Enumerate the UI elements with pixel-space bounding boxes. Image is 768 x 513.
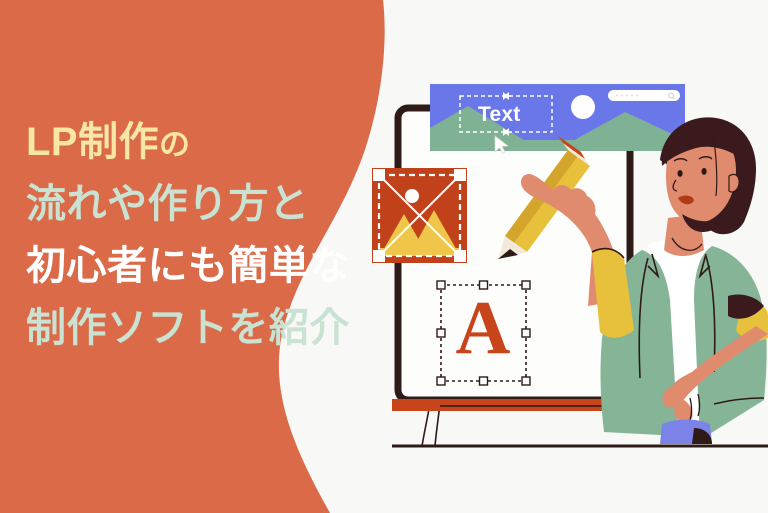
image-placeholder-sun-icon bbox=[405, 189, 419, 203]
image-placeholder[interactable] bbox=[372, 168, 467, 263]
banner-sun-icon bbox=[571, 95, 595, 119]
resize-handle-tr[interactable] bbox=[454, 169, 466, 181]
headline-line-1-suffix: の bbox=[159, 127, 190, 162]
search-bar-mockup bbox=[608, 90, 680, 101]
person-eye-left bbox=[677, 170, 682, 177]
headline-line-2: 流れや作り方と bbox=[26, 184, 386, 224]
lp-article-thumbnail: LP制作の 流れや作り方と 初心者にも簡単な 制作ソフトを紹介 Text A bbox=[0, 0, 768, 513]
headline-block: LP制作の 流れや作り方と 初心者にも簡単な 制作ソフトを紹介 bbox=[26, 122, 386, 348]
resize-handle-br[interactable] bbox=[454, 250, 466, 262]
hero-banner-mockup bbox=[430, 84, 685, 154]
headline-line-3: 初心者にも簡単な bbox=[26, 246, 386, 286]
person-eye-right bbox=[701, 168, 706, 175]
banner-mountain-base bbox=[430, 140, 685, 151]
headline-line-4: 制作ソフトを紹介 bbox=[26, 308, 386, 348]
person-jacket-right bbox=[694, 246, 767, 440]
headline-line-1: LP制作の bbox=[26, 122, 386, 162]
image-placeholder-floor bbox=[378, 248, 460, 256]
